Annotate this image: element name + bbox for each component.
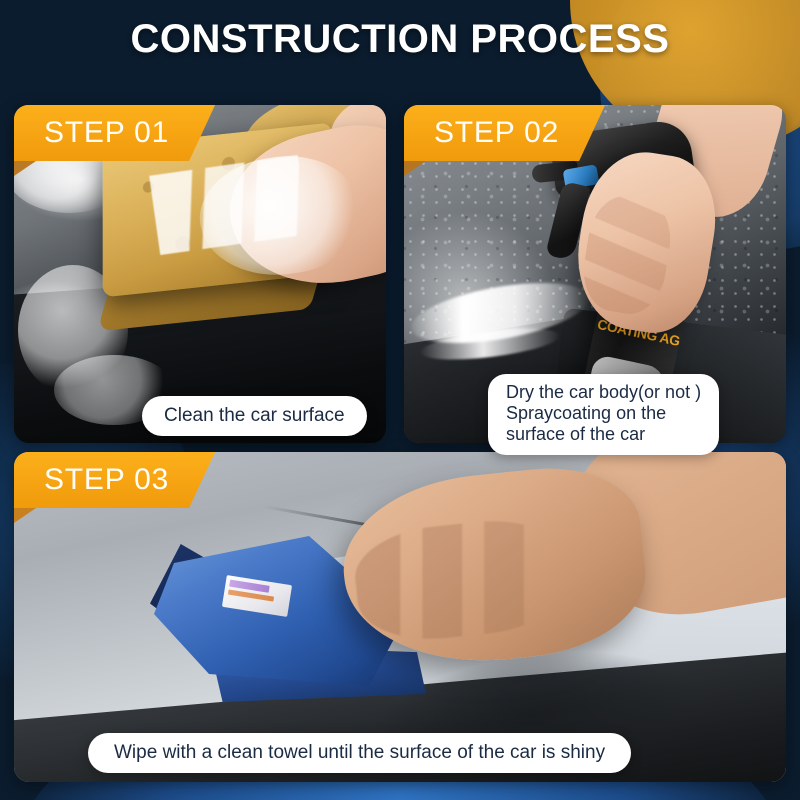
step-2-caption-line-3: surface of the car [506,424,701,445]
page-title: CONSTRUCTION PROCESS [0,17,800,62]
step-2-caption-line-1: Dry the car body(or not ) [506,382,701,403]
step-2-badge-label: STEP 02 [404,105,605,161]
step-2-badge: STEP 02 [404,105,605,161]
step-1-caption-text: Clean the car surface [164,405,345,427]
step-3-badge-label: STEP 03 [14,452,215,508]
step-3-caption-text: Wipe with a clean towel until the surfac… [114,742,605,764]
construction-process-infographic: CONSTRUCTION PROCESS [0,0,800,800]
step-1-badge: STEP 01 [14,105,215,161]
step-2-caption-lines: Dry the car body(or not ) Spraycoating o… [506,382,701,445]
step-1-badge-label: STEP 01 [14,105,215,161]
step-2-caption-line-2: Spraycoating on the [506,403,701,424]
step-1-caption: Clean the car surface [142,396,367,436]
step-3-caption: Wipe with a clean towel until the surfac… [88,733,631,773]
step-3-badge: STEP 03 [14,452,215,508]
step-2-caption: Dry the car body(or not ) Spraycoating o… [488,374,719,455]
